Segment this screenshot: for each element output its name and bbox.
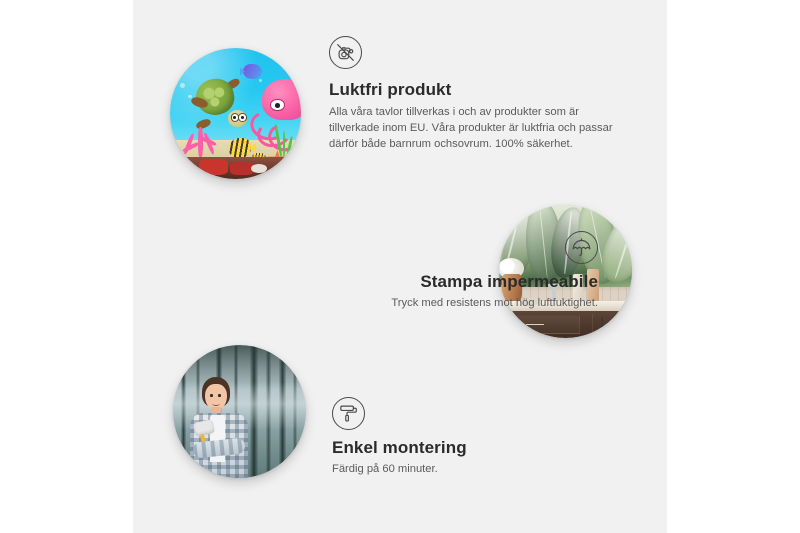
umbrella-icon: [565, 231, 598, 264]
bubble-icon: [180, 83, 185, 88]
photo-painter-forest-wallpaper[interactable]: [173, 345, 306, 478]
feature-title: Luktfri produkt: [329, 80, 619, 100]
feature-infographic-page: Luktfri produkt Alla våra tavlor tillver…: [0, 0, 800, 533]
feature-odourless: Luktfri produkt Alla våra tavlor tillver…: [329, 36, 619, 153]
paint-roller-icon: [332, 397, 365, 430]
no-fragrance-icon: [329, 36, 362, 69]
leaf-vein: [615, 218, 632, 278]
vanity-cabinet: [510, 311, 632, 338]
photo-underwater-kids-mural[interactable]: [170, 48, 301, 179]
feature-description: Alla våra tavlor tillverkas i och av pro…: [329, 105, 619, 153]
turtle-head: [228, 110, 248, 127]
octopus-head: [262, 79, 301, 120]
seagrass-blade: [285, 136, 293, 159]
drawer-handle: [526, 324, 544, 325]
foreground-shape: [199, 159, 228, 175]
feature-description: Färdig på 60 minuter.: [332, 462, 612, 478]
foreground-shape: [251, 164, 267, 173]
foreground-shape: [175, 163, 193, 174]
coral-illustration: [180, 119, 219, 158]
cabinet-drawer: [515, 315, 581, 334]
seagrass-blade: [283, 131, 286, 158]
feature-description: Tryck med resistens mot hög luftfuktighe…: [283, 296, 598, 312]
door-handle: [601, 317, 603, 334]
feature-title: Enkel montering: [332, 438, 612, 458]
feature-waterproof: Stampa impermeabile Tryck med resistens …: [283, 231, 598, 312]
person-smile: [212, 401, 221, 406]
photo-inner: [173, 345, 306, 478]
cabinet-door: [592, 314, 630, 338]
painter-person: [184, 377, 261, 478]
person-eye: [218, 394, 221, 396]
photo-inner: [170, 48, 301, 179]
feature-title: Stampa impermeabile: [283, 272, 598, 292]
turtle-eye: [238, 113, 247, 121]
octopus-eye: [270, 99, 284, 112]
ocean-foreground-strip: [170, 157, 301, 179]
person-eye: [210, 394, 213, 396]
feature-assembly: Enkel montering Färdig på 60 minuter.: [332, 397, 612, 478]
content-panel: Luktfri produkt Alla våra tavlor tillver…: [133, 0, 667, 533]
